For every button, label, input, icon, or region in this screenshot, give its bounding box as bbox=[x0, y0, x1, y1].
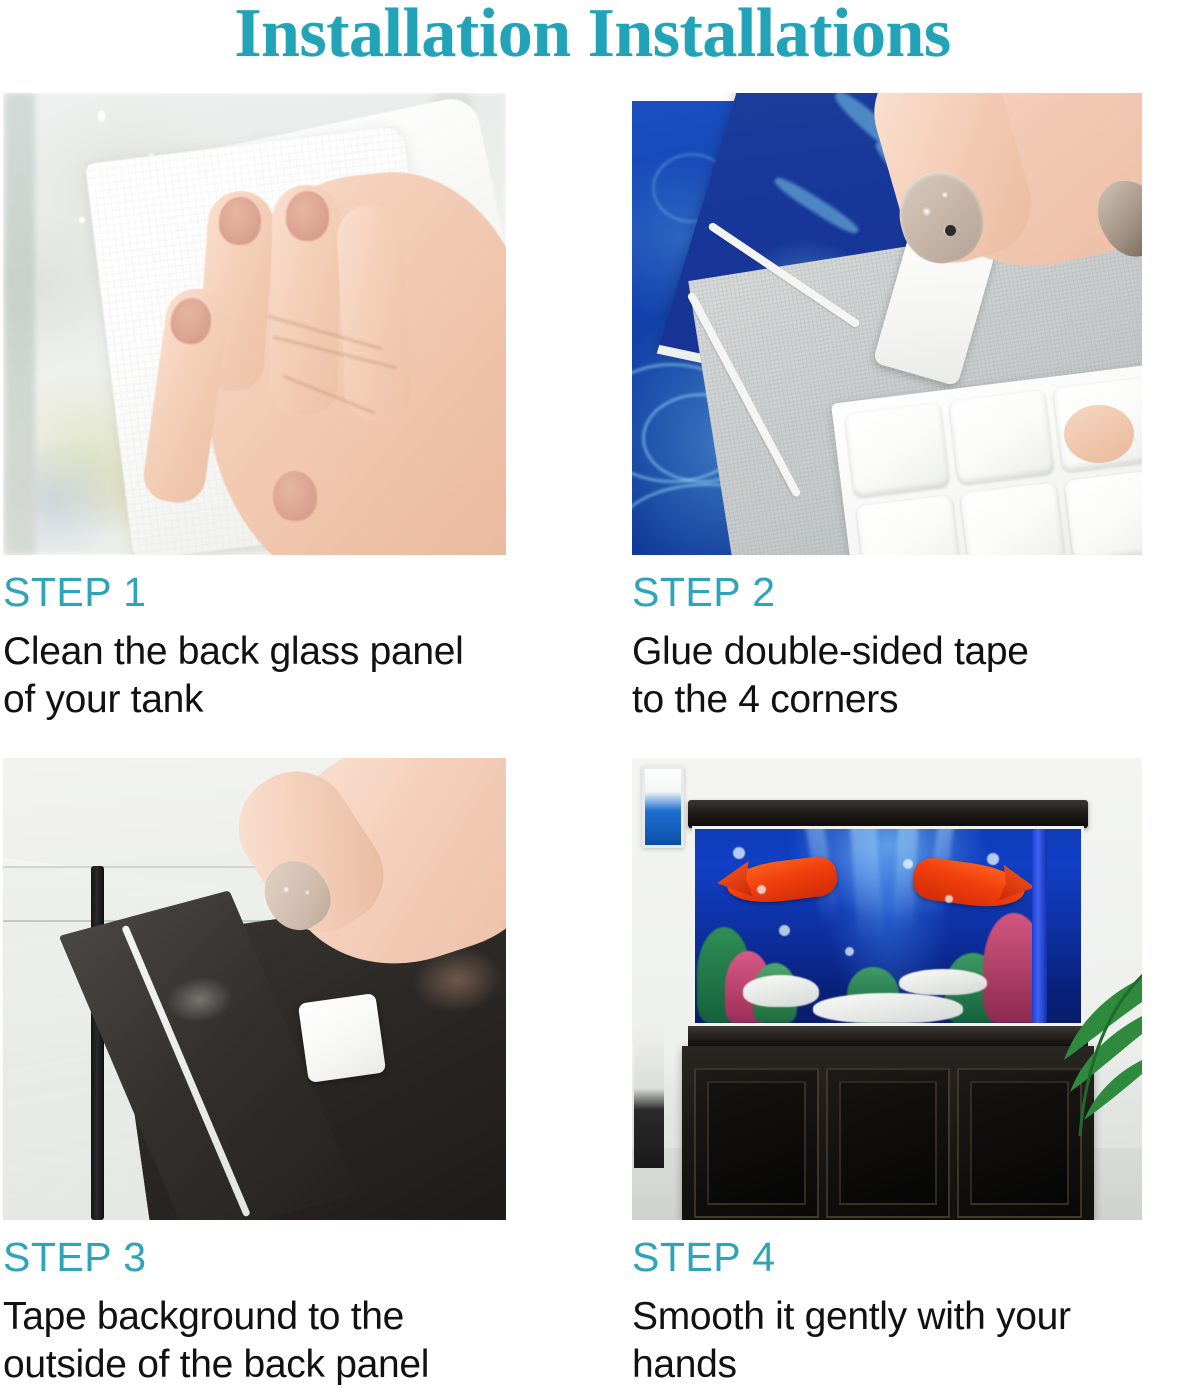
bubble bbox=[779, 925, 790, 936]
cabinet-door-panel bbox=[839, 1081, 938, 1205]
tape-square bbox=[298, 993, 386, 1083]
bubble bbox=[733, 847, 745, 859]
tank-hood-light bbox=[688, 800, 1088, 828]
tape-square bbox=[844, 403, 949, 498]
rock-decor bbox=[899, 969, 987, 995]
step-2-text: Glue double-sided tape to the 4 corners bbox=[632, 628, 1142, 723]
step-4-text: Smooth it gently with your hands bbox=[632, 1293, 1142, 1388]
step-3-caption: STEP 3 Tape background to the outside of… bbox=[3, 1220, 506, 1388]
bubble bbox=[945, 895, 953, 903]
step-2-caption: STEP 2 Glue double-sided tape to the 4 c… bbox=[632, 555, 1142, 723]
window-frame-left bbox=[5, 93, 35, 555]
bubble bbox=[903, 859, 913, 869]
page-title: Installation Installations bbox=[0, 0, 1185, 74]
step-4-label: STEP 4 bbox=[632, 1236, 1142, 1279]
bubble bbox=[845, 947, 854, 956]
marble-pattern bbox=[771, 174, 861, 238]
step-3-label: STEP 3 bbox=[3, 1236, 506, 1279]
tape-square bbox=[856, 494, 961, 555]
step-card-2: STEP 2 Glue double-sided tape to the 4 c… bbox=[632, 93, 1142, 723]
fingernail bbox=[286, 191, 330, 242]
step-1-photo bbox=[3, 93, 506, 555]
step-3-photo bbox=[3, 758, 506, 1220]
step-card-1: STEP 1 Clean the back glass panel of you… bbox=[3, 93, 506, 723]
tape-square bbox=[949, 390, 1054, 485]
step-1-caption: STEP 1 Clean the back glass panel of you… bbox=[3, 555, 506, 723]
step-4-caption: STEP 4 Smooth it gently with your hands bbox=[632, 1220, 1142, 1388]
installation-guide-page: Installation Installations bbox=[0, 0, 1185, 1398]
step-2-label: STEP 2 bbox=[632, 571, 1142, 614]
fingertip bbox=[1064, 405, 1134, 463]
cabinet-door-panel bbox=[707, 1081, 806, 1205]
step-card-3: STEP 3 Tape background to the outside of… bbox=[3, 758, 506, 1388]
tank-corner-seal bbox=[91, 866, 104, 1220]
tape-square bbox=[1064, 469, 1142, 555]
gravel-bed bbox=[813, 993, 963, 1023]
wall-art-frame bbox=[642, 766, 684, 848]
tape-application-scene bbox=[632, 93, 1142, 555]
step-card-4: STEP 4 Smooth it gently with your hands bbox=[632, 758, 1142, 1388]
cabinet-door-left[interactable] bbox=[694, 1068, 819, 1218]
water-droplet-icon bbox=[79, 217, 85, 223]
bubble bbox=[757, 885, 766, 894]
side-furniture bbox=[634, 1023, 664, 1168]
cabinet-door-center[interactable] bbox=[826, 1068, 951, 1218]
ring-finger bbox=[335, 203, 412, 421]
step-1-label: STEP 1 bbox=[3, 571, 506, 614]
plant-leaf-icon bbox=[1024, 968, 1142, 1143]
rock-decor bbox=[743, 975, 819, 1007]
nail-art-dot bbox=[945, 225, 956, 236]
tape-square bbox=[960, 482, 1065, 555]
bubble bbox=[987, 853, 999, 865]
water-droplet-icon bbox=[98, 111, 105, 122]
step-2-photo bbox=[632, 93, 1142, 555]
step-4-photo bbox=[632, 758, 1142, 1220]
step-3-text: Tape background to the outside of the ba… bbox=[3, 1293, 506, 1388]
step-1-text: Clean the back glass panel of your tank bbox=[3, 628, 506, 723]
